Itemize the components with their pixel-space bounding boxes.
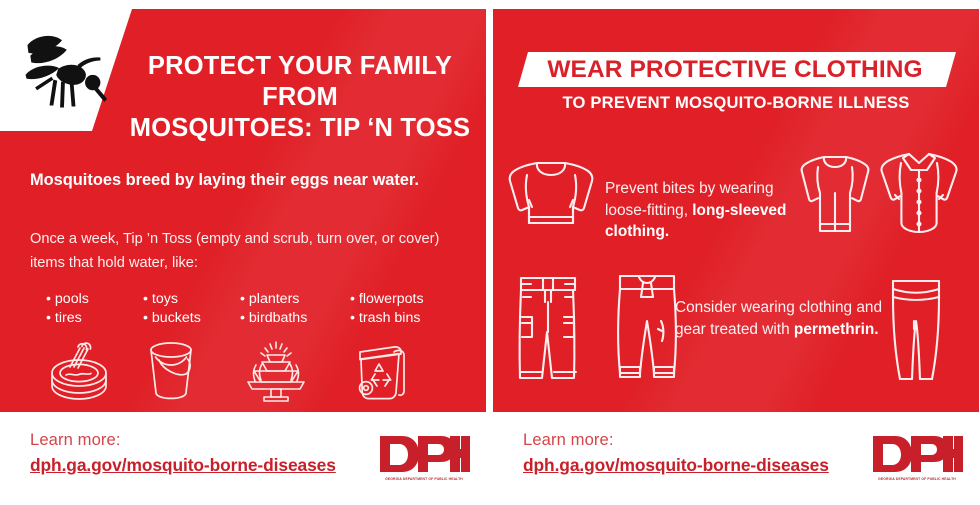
long-sleeve-tee-icon: [799, 151, 871, 235]
list-item: birdbaths: [240, 309, 350, 328]
sweater-icon: [507, 155, 595, 233]
left-title-line-2: MOSQUITOES: TIP ‘N TOSS: [124, 113, 476, 144]
list-item: flowerpots: [350, 290, 460, 309]
right-card-red-panel: WEAR PROTECTIVE CLOTHING TO PREVENT MOSQ…: [493, 9, 979, 412]
kiddie-pool-icon: [46, 339, 112, 401]
list-item: pools: [46, 290, 143, 309]
leggings-icon: [883, 275, 949, 387]
list-item: tires: [46, 309, 143, 328]
items-column-1: pools tires: [46, 290, 143, 328]
dph-logo: GEORGIA DEPARTMENT OF PUBLIC HEALTH: [378, 434, 470, 482]
bucket-icon: [143, 339, 199, 401]
dph-url-link[interactable]: dph.ga.gov/mosquito-borne-diseases: [30, 455, 336, 476]
learn-more-label: Learn more:: [30, 430, 121, 450]
right-card-subtitle: TO PREVENT MOSQUITO-BORNE ILLNESS: [493, 93, 979, 113]
learn-more-label: Learn more:: [523, 430, 614, 450]
mosquito-icon: [14, 23, 110, 119]
items-column-3: planters birdbaths: [240, 290, 350, 328]
jogger-pants-icon: [609, 271, 685, 385]
card-protective-clothing: WEAR PROTECTIVE CLOTHING TO PREVENT MOSQ…: [493, 0, 979, 505]
left-card-red-panel: PROTECT YOUR FAMILY FROM MOSQUITOES: TIP…: [0, 9, 486, 412]
list-item: toys: [143, 290, 240, 309]
list-item: trash bins: [350, 309, 460, 328]
text2-bold: permethrin.: [794, 321, 879, 338]
right-card-text-block-1: Prevent bites by wearing loose-fitting, …: [605, 178, 805, 243]
dph-logo-tagline: GEORGIA DEPARTMENT OF PUBLIC HEALTH: [378, 477, 470, 481]
left-card-body: Once a week, Tip ’n Toss (empty and scru…: [30, 227, 462, 275]
card-tip-n-toss: PROTECT YOUR FAMILY FROM MOSQUITOES: TIP…: [0, 0, 486, 505]
icon-cell-fountain: [240, 339, 350, 403]
left-card-lead: Mosquitoes breed by laying their eggs ne…: [30, 169, 470, 191]
right-card-footer: Learn more: dph.ga.gov/mosquito-borne-di…: [493, 412, 979, 505]
fountain-birdbath-icon: [240, 339, 312, 403]
water-holding-items-columns: pools tires toys buckets planters birdba…: [46, 290, 470, 328]
icon-cell-trash: [350, 339, 460, 403]
water-holding-items-icons: [46, 339, 470, 403]
right-card-banner-title: WEAR PROTECTIVE CLOTHING: [518, 52, 956, 87]
items-column-2: toys buckets: [143, 290, 240, 328]
dph-logo: GEORGIA DEPARTMENT OF PUBLIC HEALTH: [871, 434, 963, 482]
infographic-board: PROTECT YOUR FAMILY FROM MOSQUITOES: TIP…: [0, 0, 980, 505]
left-title-line-1: PROTECT YOUR FAMILY FROM: [124, 51, 476, 113]
dph-logo-mark: [871, 434, 963, 475]
right-card-banner: WEAR PROTECTIVE CLOTHING: [518, 52, 956, 87]
dph-logo-mark: [378, 434, 470, 475]
list-item: buckets: [143, 309, 240, 328]
icon-cell-pool: [46, 339, 143, 403]
items-column-4: flowerpots trash bins: [350, 290, 460, 328]
list-item: planters: [240, 290, 350, 309]
dph-logo-tagline: GEORGIA DEPARTMENT OF PUBLIC HEALTH: [871, 477, 963, 481]
left-card-title: PROTECT YOUR FAMILY FROM MOSQUITOES: TIP…: [124, 51, 476, 144]
dph-url-link[interactable]: dph.ga.gov/mosquito-borne-diseases: [523, 455, 829, 476]
cargo-pants-icon: [509, 273, 587, 385]
trash-bin-recycle-icon: [350, 339, 408, 401]
left-card-footer: Learn more: dph.ga.gov/mosquito-borne-di…: [0, 412, 486, 505]
icon-cell-bucket: [143, 339, 240, 403]
button-up-shirt-icon: [877, 149, 961, 237]
right-card-text-block-2: Consider wearing clothing and gear treat…: [675, 297, 887, 340]
